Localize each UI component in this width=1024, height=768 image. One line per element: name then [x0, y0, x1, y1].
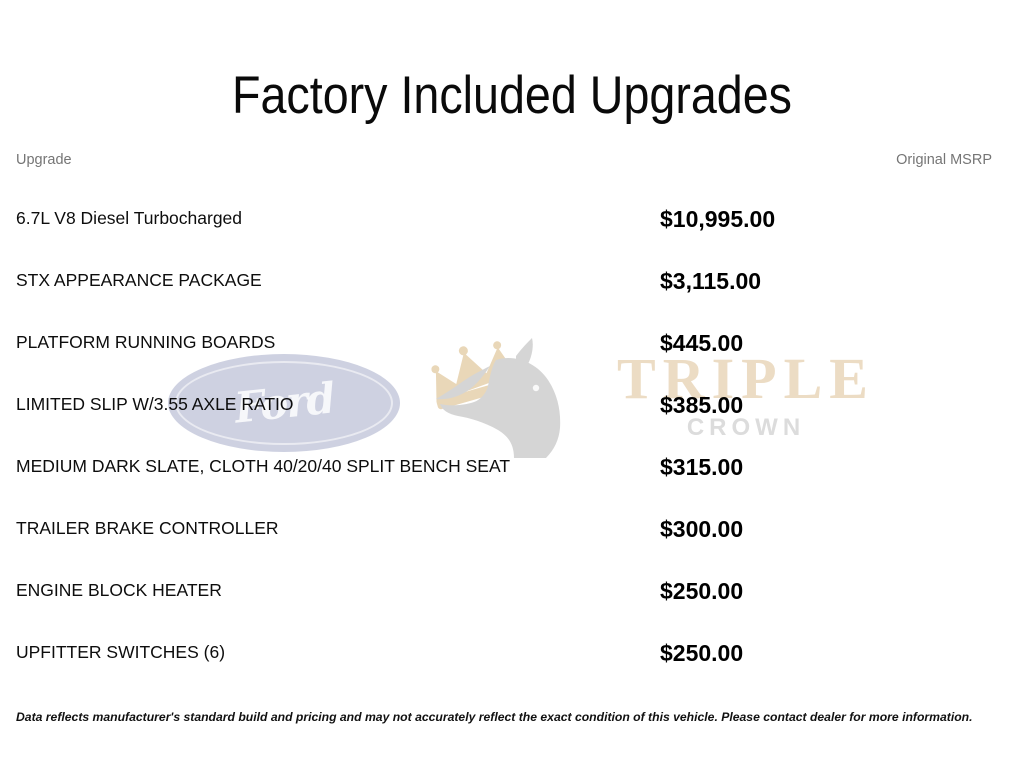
table-row: STX APPEARANCE PACKAGE $3,115.00 — [16, 250, 992, 312]
table-row: LIMITED SLIP W/3.55 AXLE RATIO $385.00 — [16, 374, 992, 436]
page-title: Factory Included Upgrades — [61, 68, 962, 124]
upgrade-price: $300.00 — [660, 516, 743, 543]
upgrade-name: 6.7L V8 Diesel Turbocharged — [16, 207, 660, 230]
upgrade-price: $445.00 — [660, 330, 743, 357]
table-header-row: Upgrade Original MSRP — [16, 152, 992, 188]
upgrade-price: $315.00 — [660, 454, 743, 481]
upgrade-name: TRAILER BRAKE CONTROLLER — [16, 517, 660, 540]
upgrade-price: $385.00 — [660, 392, 743, 419]
upgrade-name: UPFITTER SWITCHES (6) — [16, 641, 660, 664]
upgrade-price: $250.00 — [660, 640, 743, 667]
table-row: TRAILER BRAKE CONTROLLER $300.00 — [16, 498, 992, 560]
upgrade-price: $250.00 — [660, 578, 743, 605]
table-row: MEDIUM DARK SLATE, CLOTH 40/20/40 SPLIT … — [16, 436, 992, 498]
upgrade-price: $10,995.00 — [660, 206, 775, 233]
upgrades-table: Upgrade Original MSRP 6.7L V8 Diesel Tur… — [16, 152, 992, 684]
column-header-upgrade: Upgrade — [16, 152, 896, 168]
column-header-msrp: Original MSRP — [896, 152, 992, 168]
table-row: PLATFORM RUNNING BOARDS $445.00 — [16, 312, 992, 374]
upgrade-name: STX APPEARANCE PACKAGE — [16, 269, 660, 292]
table-row: ENGINE BLOCK HEATER $250.00 — [16, 560, 992, 622]
disclaimer-text: Data reflects manufacturer's standard bu… — [16, 710, 1006, 726]
table-row: 6.7L V8 Diesel Turbocharged $10,995.00 — [16, 188, 992, 250]
upgrade-name: PLATFORM RUNNING BOARDS — [16, 331, 660, 354]
upgrade-name: MEDIUM DARK SLATE, CLOTH 40/20/40 SPLIT … — [16, 455, 660, 478]
upgrade-name: ENGINE BLOCK HEATER — [16, 579, 660, 602]
vehicle-upgrades-page: Ford TRIPLE — [0, 0, 1024, 768]
upgrade-name: LIMITED SLIP W/3.55 AXLE RATIO — [16, 393, 660, 416]
upgrade-price: $3,115.00 — [660, 268, 761, 295]
table-row: UPFITTER SWITCHES (6) $250.00 — [16, 622, 992, 684]
